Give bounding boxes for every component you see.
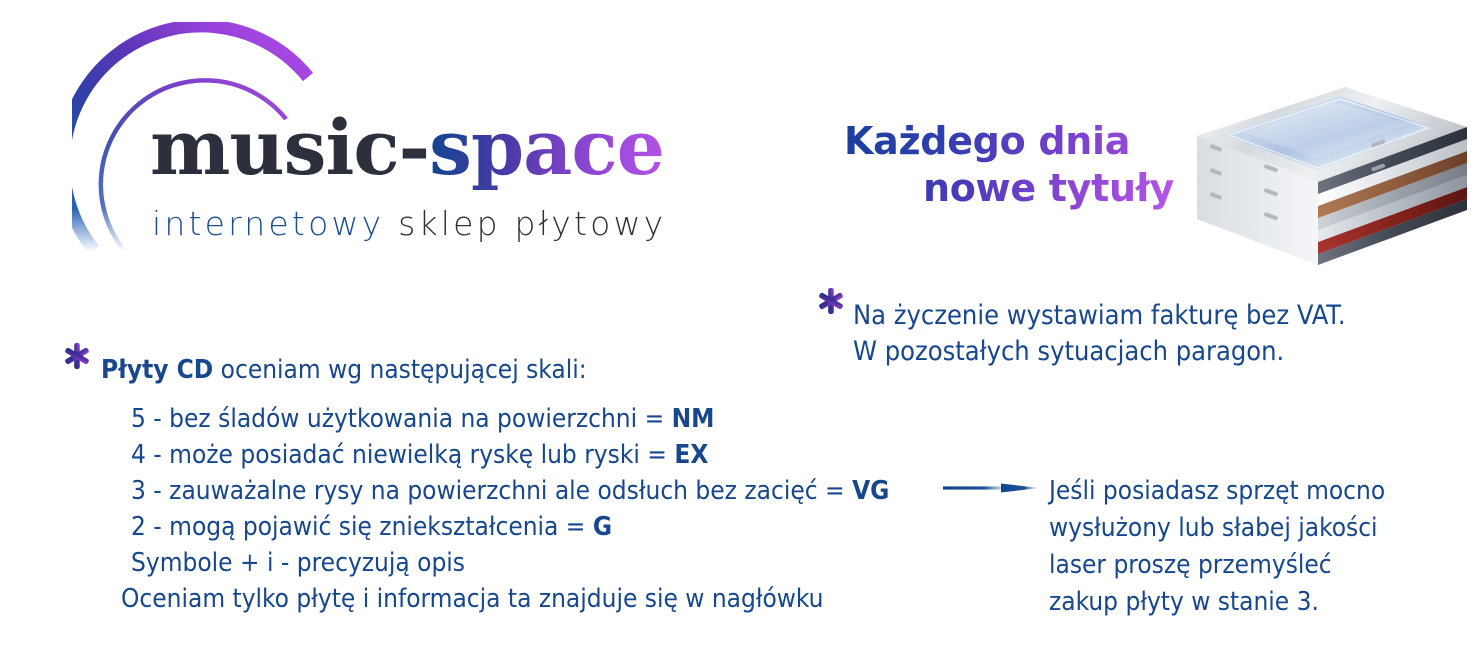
scale-heading-rest: oceniam wg następującej skali: — [213, 355, 586, 385]
scale-list: 5 - bez śladów użytkowania na powierzchn… — [131, 401, 889, 617]
logo-word-space: space — [429, 103, 664, 192]
tagline: Każdego dnia nowe tytuły — [844, 118, 1174, 211]
scale-item-3: 3 - zauważalne rysy na powierzchni ale o… — [131, 473, 889, 509]
scale-item-2: 2 - mogą pojawić się zniekształcenia = G — [131, 509, 889, 545]
logo-subtitle: internetowy sklep płytowy — [152, 207, 832, 240]
scale-note-symbols: Symbole + i - precyzują opis — [131, 545, 889, 581]
scale-item-4-text: 4 - może posiadać niewielką ryskę lub ry… — [131, 440, 674, 470]
laser-note-line-2: wysłużony lub słabej jakości — [1049, 510, 1385, 547]
logo-subtitle-part-sklep: sklep płytowy — [398, 204, 666, 243]
scale-item-2-text: 2 - mogą pojawić się zniekształcenia = — [131, 512, 593, 542]
scale-item-5-text: 5 - bez śladów użytkowania na powierzchn… — [131, 404, 672, 434]
right-arrow-icon — [943, 478, 1043, 498]
scale-item-2-grade: G — [593, 512, 612, 542]
scale-note-header: Oceniam tylko płytę i informacja ta znaj… — [121, 581, 889, 617]
laser-note: Jeśli posiadasz sprzęt mocno wysłużony l… — [1049, 473, 1385, 621]
asterisk-bullet-invoice — [816, 286, 846, 316]
asterisk-bullet-scale — [62, 341, 92, 371]
scale-item-3-text: 3 - zauważalne rysy na powierzchni ale o… — [131, 476, 852, 506]
scale-item-4-grade: EX — [674, 440, 708, 470]
page-canvas: music-space internetowy sklep płytowy Ka… — [0, 0, 1481, 655]
site-logo[interactable]: music-space internetowy sklep płytowy — [72, 22, 772, 252]
scale-item-4: 4 - może posiadać niewielką ryskę lub ry… — [131, 437, 889, 473]
logo-word-music: music- — [150, 103, 429, 192]
laser-note-line-1: Jeśli posiadasz sprzęt mocno — [1049, 473, 1385, 510]
tagline-line-2: nowe tytuły — [844, 165, 1174, 212]
scale-heading-bold: Płyty CD — [101, 355, 213, 385]
laser-note-line-3: laser proszę przemyśleć — [1049, 547, 1385, 584]
logo-wordmark: music-space — [150, 110, 770, 200]
invoice-note: Na życzenie wystawiam fakturę bez VAT. W… — [853, 298, 1346, 370]
tagline-line-1: Każdego dnia — [844, 118, 1174, 165]
invoice-note-line-1: Na życzenie wystawiam fakturę bez VAT. — [853, 298, 1346, 334]
scale-item-3-grade: VG — [852, 476, 889, 506]
scale-item-5: 5 - bez śladów użytkowania na powierzchn… — [131, 401, 889, 437]
scale-item-5-grade: NM — [672, 404, 715, 434]
laser-note-line-4: zakup płyty w stanie 3. — [1049, 584, 1385, 621]
cd-jewel-case-stack-image — [1185, 58, 1475, 273]
invoice-note-line-2: W pozostałych sytuacjach paragon. — [853, 334, 1346, 370]
scale-heading: Płyty CD oceniam wg następującej skali: — [101, 355, 587, 385]
logo-subtitle-part-internetowy: internetowy — [152, 204, 398, 243]
